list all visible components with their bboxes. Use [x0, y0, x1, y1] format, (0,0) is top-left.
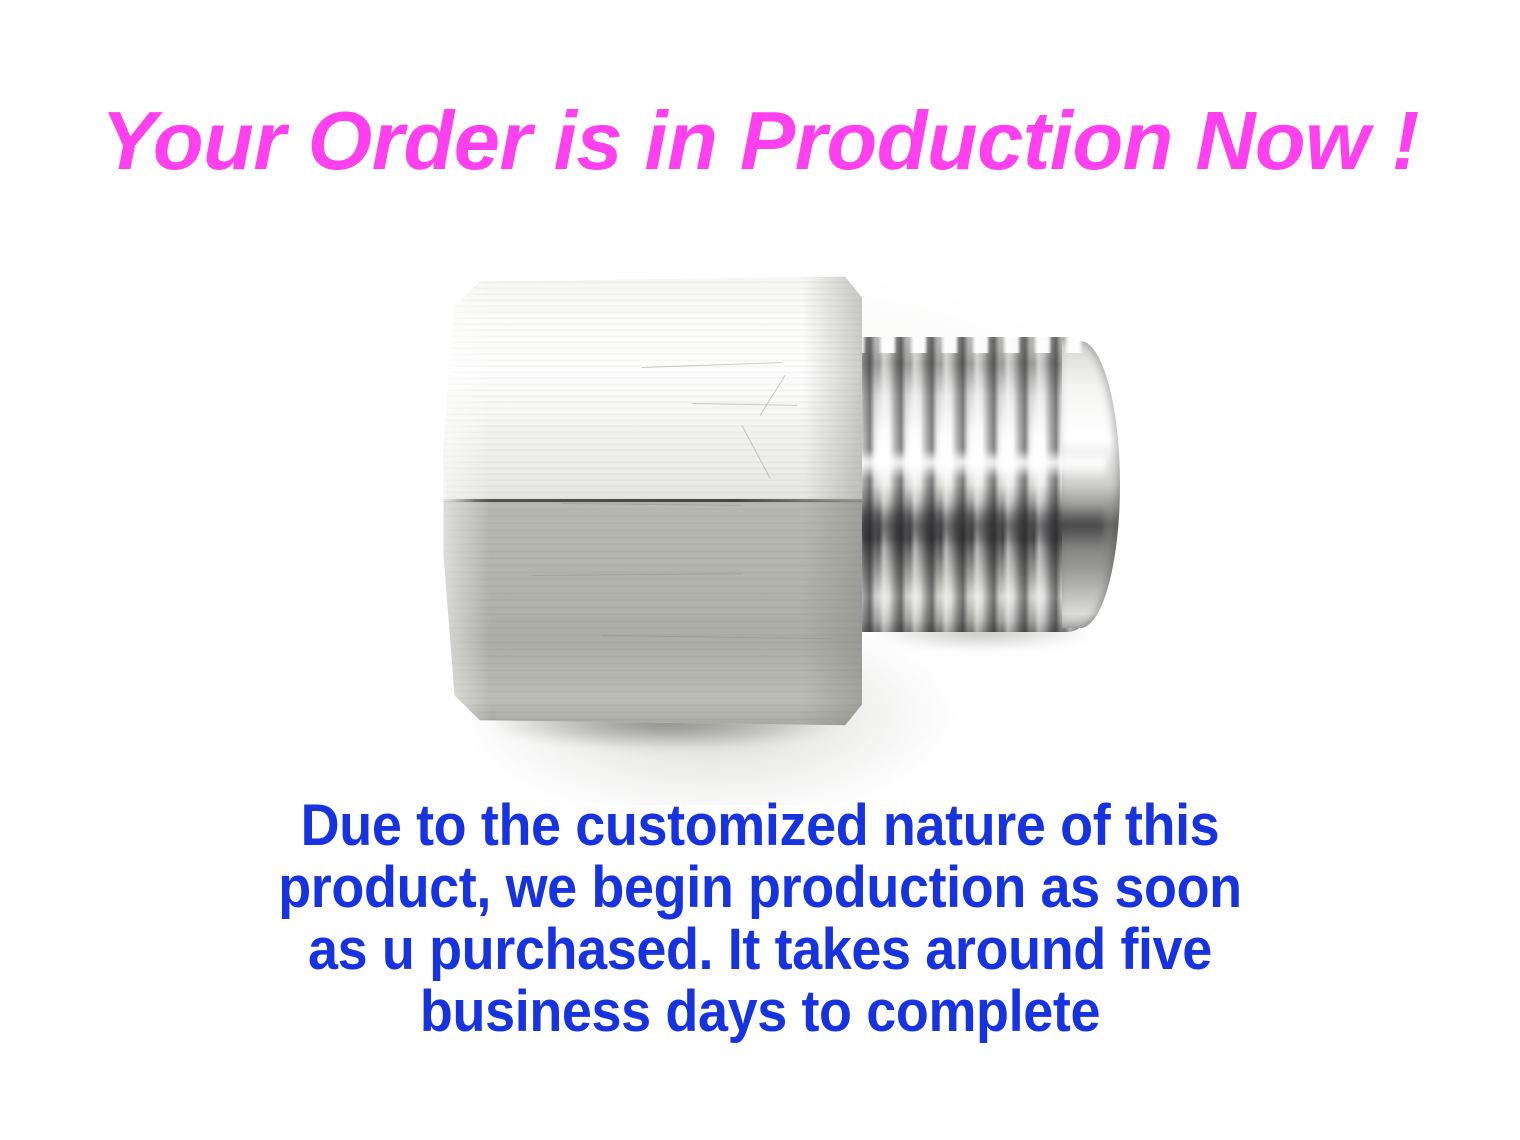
- hex-chamfer-right: [802, 275, 862, 727]
- product-photo: [380, 245, 1200, 805]
- body-copy: Due to the customized nature of this pro…: [0, 795, 1520, 1043]
- threaded-end: [848, 337, 1128, 632]
- body-line-1: Due to the customized nature of this: [53, 795, 1467, 857]
- body-line-2: product, we begin production as soon: [53, 857, 1467, 919]
- hex-body: [442, 275, 862, 727]
- hex-face-bottom: [442, 501, 862, 727]
- hex-face-parting-line: [442, 499, 862, 502]
- body-line-4: business days to complete: [53, 981, 1467, 1043]
- hex-face-top: [442, 275, 862, 501]
- page-title: Your Order is in Production Now !: [0, 95, 1520, 187]
- body-line-3: as u purchased. It takes around five: [53, 919, 1467, 981]
- promo-graphic: Your Order is in Production Now !: [0, 0, 1520, 1140]
- thread-nose-cap: [1062, 341, 1120, 628]
